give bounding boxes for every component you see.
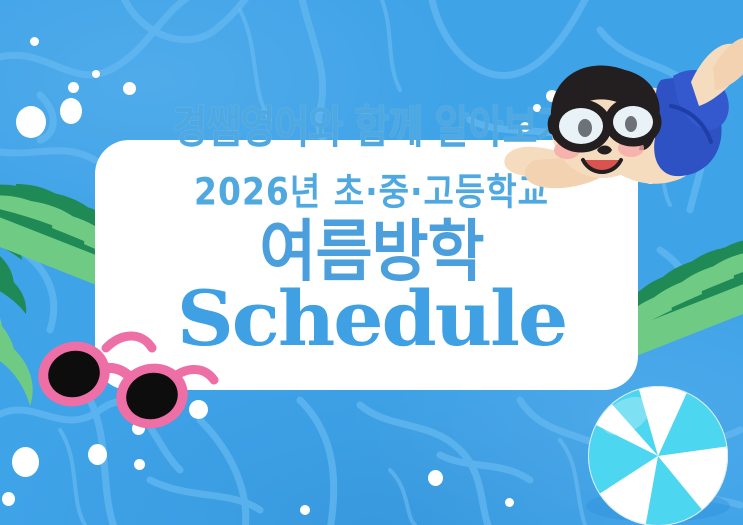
beach-ball-icon: [582, 382, 742, 525]
poster-canvas: 경쌤영어와 함께 알아보기 2026년 초·중·고등학교 여름방학 Schedu…: [0, 0, 743, 525]
sunglasses-icon: [18, 322, 218, 437]
swimmer-boy-icon: [505, 18, 743, 198]
